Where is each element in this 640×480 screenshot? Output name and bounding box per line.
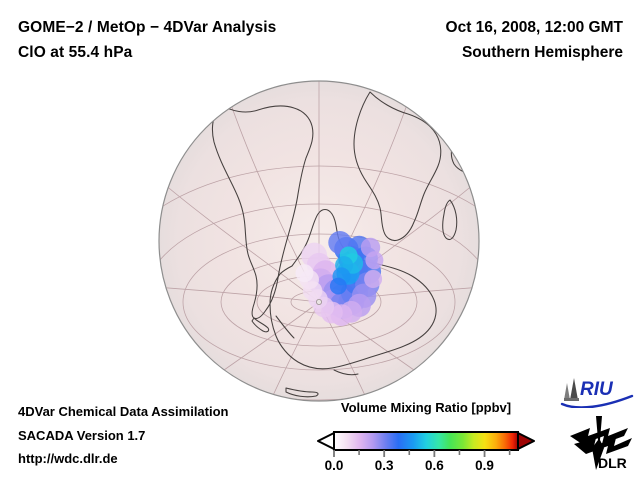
riu-logo: RIU (558, 374, 634, 408)
hemisphere-label: Southern Hemisphere (446, 40, 623, 65)
riu-logo-svg: RIU (558, 374, 634, 408)
colorbar-low-arrow-cap (318, 433, 334, 449)
clo-data-blob (365, 251, 383, 269)
dlr-wordmark: DLR (598, 455, 627, 471)
footer-line-version: SACADA Version 1.7 (18, 424, 229, 448)
footer-text-block: 4DVar Chemical Data Assimilation SACADA … (18, 400, 229, 471)
species-level-subtitle: ClO at 55.4 hPa (18, 40, 276, 65)
colorbar-gradient-bar (334, 432, 518, 450)
colorbar-svg: 0.00.30.60.9 (312, 421, 540, 471)
colorbar-tick-label: 0.6 (425, 458, 444, 471)
dlr-logo: DLR (566, 414, 634, 472)
globe-svg (158, 80, 480, 402)
colorbar: Volume Mixing Ratio [ppbv] 0.00.30.60.9 (312, 400, 540, 472)
analysis-title: GOME−2 / MetOp − 4DVar Analysis (18, 15, 276, 40)
footer-line-assimilation: 4DVar Chemical Data Assimilation (18, 400, 229, 424)
header-left-block: GOME−2 / MetOp − 4DVar Analysis ClO at 5… (18, 15, 276, 65)
clo-data-blob (330, 278, 347, 295)
clo-data-blob (364, 270, 382, 288)
riu-spires-icon (564, 378, 579, 401)
colorbar-ticks (334, 450, 510, 457)
footer-line-url: http://wdc.dlr.de (18, 447, 229, 471)
timestamp-label: Oct 16, 2008, 12:00 GMT (446, 15, 623, 40)
clo-data-blob (296, 264, 314, 282)
dlr-logo-svg: DLR (566, 414, 634, 472)
globe-map (158, 80, 480, 402)
header-right-block: Oct 16, 2008, 12:00 GMT Southern Hemisph… (446, 15, 623, 65)
colorbar-title: Volume Mixing Ratio [ppbv] (312, 400, 540, 415)
colorbar-high-arrow-cap (518, 433, 534, 449)
riu-wordmark: RIU (580, 379, 614, 400)
colorbar-tick-label: 0.9 (475, 458, 494, 471)
colorbar-tick-labels: 0.00.30.60.9 (325, 458, 494, 471)
colorbar-tick-label: 0.0 (325, 458, 344, 471)
south-pole-marker (316, 299, 321, 304)
colorbar-tick-label: 0.3 (375, 458, 394, 471)
colorbar-graphic: 0.00.30.60.9 (312, 421, 540, 476)
